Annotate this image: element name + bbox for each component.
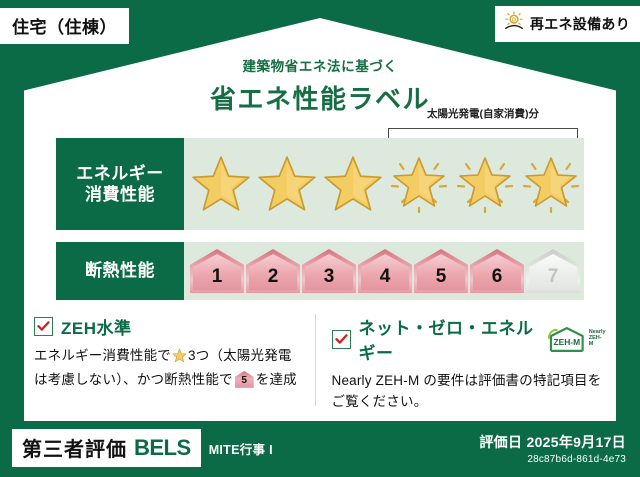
renewable-equipment-label: 再エネ設備あり: [530, 14, 630, 34]
energy-star-rating: [188, 138, 584, 230]
zeh-m-logo-sub2: ZEH-M: [589, 336, 606, 348]
zeh-body-part1: エネルギー消費性能で: [34, 348, 171, 363]
title-main: 省エネ性能ラベル: [0, 79, 640, 116]
zeh-body-star-count: 3つ（太陽光発電: [188, 348, 292, 363]
insulation-level-1: 1: [190, 249, 244, 293]
svg-text:D: D: [512, 18, 516, 24]
star-5-solar: [452, 138, 518, 230]
check-icon: [335, 334, 348, 345]
net-zero-energy-body: Nearly ZEH-M の要件は評価書の特記項目をご覧ください。: [332, 371, 607, 413]
insulation-level-6: 6: [470, 249, 524, 293]
insulation-level-2: 2: [246, 249, 300, 293]
zeh-standard-head: ZEH水準: [34, 314, 309, 339]
insulation-performance-value: 1 2 3: [184, 242, 584, 300]
solar-bracket-line: [388, 128, 578, 138]
bels-certification: 第三者評価 BELS MITE行事 I: [12, 429, 273, 467]
net-zero-energy-head: ネット・ゼロ・エネルギー ZEH-M Nearly ZEH-M: [332, 314, 607, 364]
inline-house-icon: 5: [235, 371, 254, 388]
energy-performance-key: エネルギー 消費性能: [56, 138, 184, 230]
house-badge: 5: [414, 249, 468, 293]
insulation-level-number: 7: [548, 267, 559, 293]
insulation-key-label: 断熱性能: [85, 260, 155, 281]
insulation-level-4: 4: [358, 249, 412, 293]
bels-badge: 第三者評価 BELS: [12, 429, 201, 467]
zeh-standard-title: ZEH水準: [61, 314, 132, 339]
energy-performance-value: 太陽光発電(自家消費)分: [184, 138, 584, 230]
label-title-block: 建築物省エネ法に基づく 省エネ性能ラベル: [0, 55, 640, 116]
house-badge: 2: [246, 249, 300, 293]
bels-extra-text: MITE行事 I: [209, 439, 273, 458]
insulation-performance-row: 断熱性能 1 2: [56, 242, 584, 300]
star-4-solar: [386, 138, 452, 230]
check-icon: [37, 321, 50, 332]
renewable-equipment-badge: D 再エネ設備あり: [495, 6, 640, 42]
net-zero-energy-checkbox[interactable]: [332, 330, 351, 349]
net-zero-energy-note: ネット・ゼロ・エネルギー ZEH-M Nearly ZEH-M Nearly Z…: [315, 314, 613, 406]
insulation-level-number: 6: [492, 267, 503, 293]
insulation-level-number: 5: [436, 267, 447, 293]
insulation-level-3: 3: [302, 249, 356, 293]
star-1: [188, 138, 254, 230]
inline-house-number: 5: [235, 371, 254, 388]
zeh-standard-checkbox[interactable]: [34, 317, 53, 336]
insulation-level-number: 1: [212, 267, 223, 293]
title-subtitle: 建築物省エネ法に基づく: [0, 55, 640, 75]
building-type-tag: 住宅（住棟）: [0, 8, 129, 44]
energy-key-line1: エネルギー: [76, 163, 164, 184]
zeh-m-logo-text: ZEH-M: [554, 337, 581, 347]
net-zero-energy-title: ネット・ゼロ・エネルギー: [359, 314, 536, 364]
evaluation-id: 28c87b6d-861d-4e73: [479, 454, 626, 465]
criteria-notes: ZEH水準 エネルギー消費性能で3つ（太陽光発電は考慮しない）、かつ断熱性能で5…: [28, 314, 612, 406]
evaluation-date-value: 2025年9月17日: [526, 434, 626, 450]
energy-performance-row: エネルギー 消費性能 太陽光発電(自家消費)分: [56, 138, 584, 230]
zeh-m-logo: ZEH-M Nearly ZEH-M: [547, 325, 606, 353]
zeh-body-part3: を達成: [256, 372, 297, 387]
house-badge: 3: [302, 249, 356, 293]
house-badge: 6: [470, 249, 524, 293]
insulation-level-number: 3: [324, 267, 335, 293]
star-3: [320, 138, 386, 230]
zeh-standard-body: エネルギー消費性能で3つ（太陽光発電は考慮しない）、かつ断熱性能で5を達成: [34, 346, 309, 391]
evaluation-info: 評価日 2025年9月17日 28c87b6d-861d-4e73: [479, 432, 626, 465]
zeh-standard-note: ZEH水準 エネルギー消費性能で3つ（太陽光発電は考慮しない）、かつ断熱性能で5…: [28, 314, 315, 406]
insulation-level-5: 5: [414, 249, 468, 293]
house-badge: 1: [190, 249, 244, 293]
zeh-body-part2: は考慮しない）、かつ断熱性能で: [34, 372, 233, 387]
star-2: [254, 138, 320, 230]
insulation-performance-key: 断熱性能: [56, 242, 184, 300]
evaluation-date-line: 評価日 2025年9月17日: [479, 432, 626, 452]
insulation-level-number: 2: [268, 267, 279, 293]
insulation-level-number: 4: [380, 267, 391, 293]
star-6-solar: [518, 138, 584, 230]
energy-performance-label: 住宅（住棟） D 再エネ設備あり 建築物省エネ法に基づく: [0, 0, 640, 477]
evaluation-date-label: 評価日: [479, 434, 522, 450]
house-badge: 4: [358, 249, 412, 293]
house-badge-inactive: 7: [526, 249, 580, 293]
insulation-level-scale: 1 2 3: [190, 249, 584, 293]
energy-key-line2: 消費性能: [85, 184, 155, 205]
bels-jp-label: 第三者評価: [22, 433, 127, 462]
bels-en-label: BELS: [134, 435, 191, 461]
solar-sun-icon: D: [503, 10, 525, 37]
inline-star-icon: [172, 348, 187, 370]
insulation-level-7: 7: [526, 249, 580, 293]
